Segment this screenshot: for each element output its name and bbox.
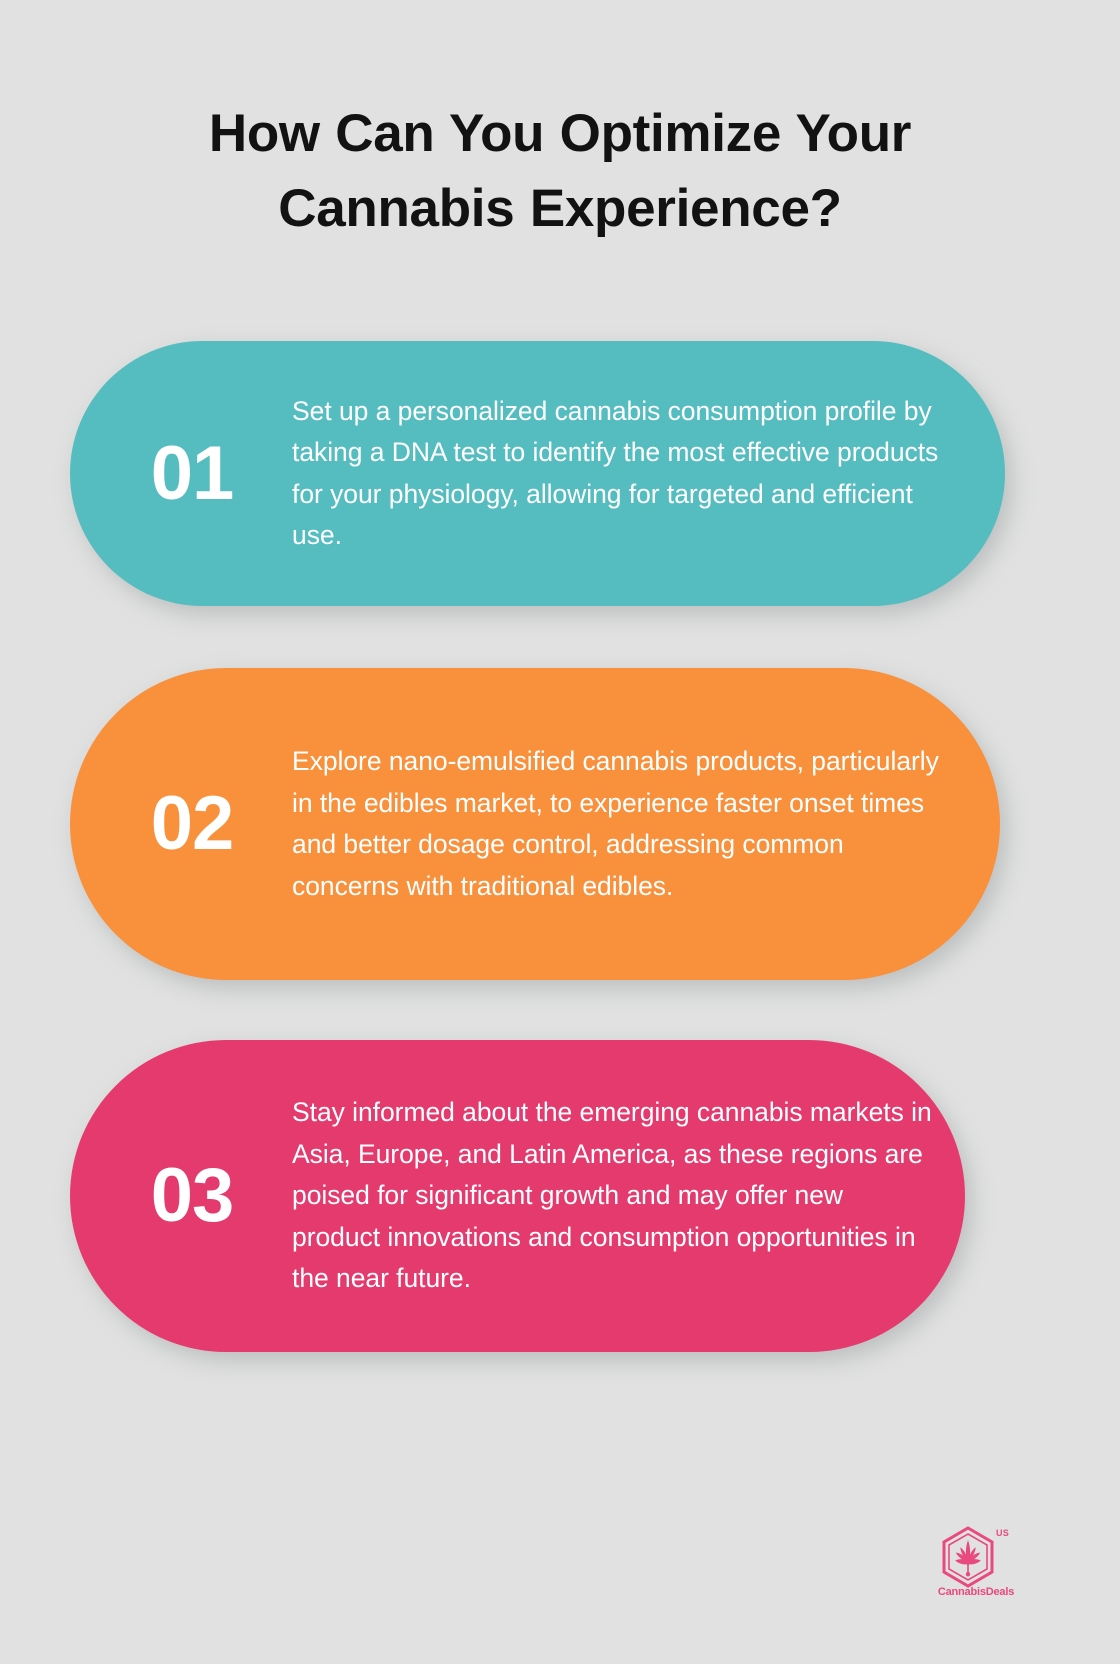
list-item: 01 Set up a personalized cannabis consum… [70,341,1005,606]
cannabis-leaf-hexagon-icon [940,1526,996,1588]
card-number: 03 [92,1158,292,1234]
list-item: 02 Explore nano-emulsified cannabis prod… [70,668,1000,980]
card-number: 01 [92,436,292,512]
logo-region-label: US [996,1528,1009,1538]
brand-logo: US CannabisDeals [926,1526,1036,1610]
card-body-text: Stay informed about the emerging cannabi… [292,1092,965,1300]
card-number: 02 [92,786,292,862]
logo-wordmark: CannabisDeals [926,1586,1026,1598]
infographic-page: How Can You Optimize YourCannabis Experi… [0,0,1120,1664]
card-list: 01 Set up a personalized cannabis consum… [0,0,1120,1664]
list-item: 03 Stay informed about the emerging cann… [70,1040,965,1352]
card-body-text: Set up a personalized cannabis consumpti… [292,391,1005,557]
card-body-text: Explore nano-emulsified cannabis product… [292,741,1000,907]
